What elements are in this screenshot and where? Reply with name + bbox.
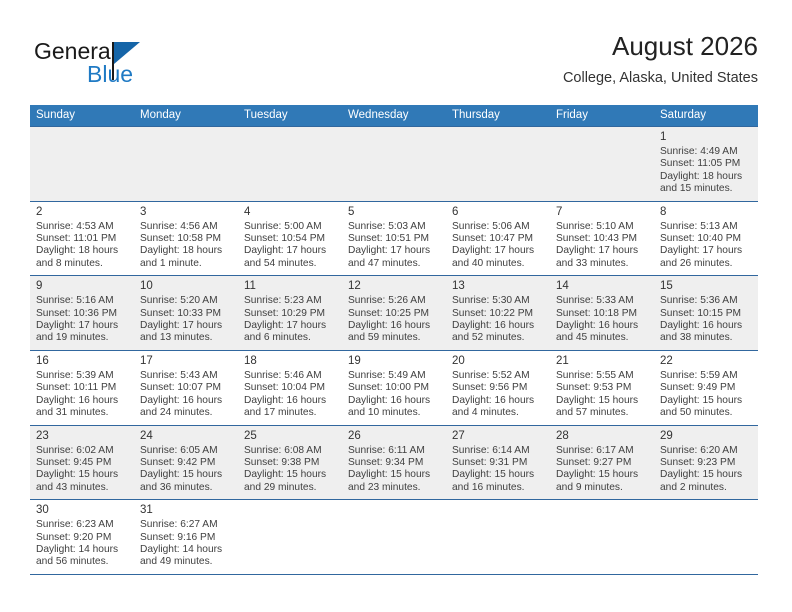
day-info-line: Sunset: 10:40 PM (660, 233, 752, 245)
day-sun-info: Sunrise: 4:56 AMSunset: 10:58 PMDaylight… (140, 221, 232, 271)
day-info-line: Daylight: 17 hours (244, 245, 336, 257)
weekday-header-monday: Monday (134, 105, 238, 127)
brand-name-blue: Blue (87, 61, 133, 87)
brand-logo[interactable]: General Blue (34, 38, 234, 94)
day-number: 11 (244, 279, 336, 294)
calendar-day-cell[interactable]: 19Sunrise: 5:49 AMSunset: 10:00 PMDaylig… (342, 350, 446, 425)
day-number: 29 (660, 429, 752, 444)
day-info-line: and 57 minutes. (556, 407, 648, 419)
day-number: 7 (556, 205, 648, 220)
day-sun-info: Sunrise: 5:36 AMSunset: 10:15 PMDaylight… (660, 295, 752, 345)
day-sun-info: Sunrise: 5:10 AMSunset: 10:43 PMDaylight… (556, 221, 648, 271)
day-info-line: Daylight: 18 hours (660, 171, 752, 183)
calendar-day-cell[interactable]: 17Sunrise: 5:43 AMSunset: 10:07 PMDaylig… (134, 350, 238, 425)
calendar-page: General Blue August 2026 College, Alaska… (0, 0, 792, 612)
calendar-day-cell-empty (654, 500, 758, 575)
day-info-line: and 33 minutes. (556, 258, 648, 270)
day-info-line: and 36 minutes. (140, 482, 232, 494)
day-info-line: Sunrise: 5:03 AM (348, 221, 440, 233)
day-info-line: Sunset: 10:36 PM (36, 308, 128, 320)
day-info-line: Sunrise: 5:52 AM (452, 370, 544, 382)
day-info-line: Daylight: 17 hours (556, 245, 648, 257)
day-info-line: Daylight: 14 hours (36, 544, 128, 556)
weekday-header-wednesday: Wednesday (342, 105, 446, 127)
day-info-line: and 50 minutes. (660, 407, 752, 419)
day-info-line: Sunset: 10:54 PM (244, 233, 336, 245)
weekday-header-friday: Friday (550, 105, 654, 127)
day-sun-info: Sunrise: 6:17 AMSunset: 9:27 PMDaylight:… (556, 445, 648, 495)
day-info-line: Sunrise: 5:23 AM (244, 295, 336, 307)
day-sun-info: Sunrise: 6:08 AMSunset: 9:38 PMDaylight:… (244, 445, 336, 495)
day-info-line: Sunrise: 4:49 AM (660, 146, 752, 158)
calendar-day-cell[interactable]: 26Sunrise: 6:11 AMSunset: 9:34 PMDayligh… (342, 425, 446, 500)
calendar-day-cell[interactable]: 1Sunrise: 4:49 AMSunset: 11:05 PMDayligh… (654, 127, 758, 202)
day-info-line: Daylight: 15 hours (452, 469, 544, 481)
day-info-line: Daylight: 16 hours (36, 395, 128, 407)
day-info-line: Daylight: 18 hours (140, 245, 232, 257)
day-info-line: Daylight: 17 hours (140, 320, 232, 332)
calendar-day-cell[interactable]: 24Sunrise: 6:05 AMSunset: 9:42 PMDayligh… (134, 425, 238, 500)
day-info-line: Sunset: 9:56 PM (452, 382, 544, 394)
day-info-line: Daylight: 17 hours (660, 245, 752, 257)
day-info-line: Daylight: 17 hours (348, 245, 440, 257)
day-number: 27 (452, 429, 544, 444)
calendar-day-cell-empty (446, 127, 550, 202)
day-info-line: Sunset: 9:34 PM (348, 457, 440, 469)
page-title: August 2026 (563, 30, 758, 62)
day-info-line: Daylight: 15 hours (348, 469, 440, 481)
day-info-line: Daylight: 16 hours (348, 395, 440, 407)
calendar-day-cell[interactable]: 15Sunrise: 5:36 AMSunset: 10:15 PMDaylig… (654, 276, 758, 351)
calendar-day-cell[interactable]: 20Sunrise: 5:52 AMSunset: 9:56 PMDayligh… (446, 350, 550, 425)
day-info-line: Daylight: 16 hours (140, 395, 232, 407)
day-info-line: Daylight: 15 hours (244, 469, 336, 481)
day-number: 25 (244, 429, 336, 444)
day-info-line: Sunrise: 6:14 AM (452, 445, 544, 457)
day-info-line: Sunset: 10:29 PM (244, 308, 336, 320)
calendar-day-cell[interactable]: 4Sunrise: 5:00 AMSunset: 10:54 PMDayligh… (238, 201, 342, 276)
day-info-line: and 49 minutes. (140, 556, 232, 568)
calendar-day-cell[interactable]: 5Sunrise: 5:03 AMSunset: 10:51 PMDayligh… (342, 201, 446, 276)
calendar-day-cell[interactable]: 8Sunrise: 5:13 AMSunset: 10:40 PMDayligh… (654, 201, 758, 276)
day-info-line: Sunset: 9:16 PM (140, 532, 232, 544)
calendar-day-cell[interactable]: 31Sunrise: 6:27 AMSunset: 9:16 PMDayligh… (134, 500, 238, 575)
day-info-line: Sunrise: 6:17 AM (556, 445, 648, 457)
day-info-line: Daylight: 15 hours (556, 395, 648, 407)
day-info-line: and 40 minutes. (452, 258, 544, 270)
day-sun-info: Sunrise: 4:53 AMSunset: 11:01 PMDaylight… (36, 221, 128, 271)
day-number: 26 (348, 429, 440, 444)
calendar-day-cell[interactable]: 18Sunrise: 5:46 AMSunset: 10:04 PMDaylig… (238, 350, 342, 425)
day-number: 1 (660, 130, 752, 145)
calendar-week-row: 30Sunrise: 6:23 AMSunset: 9:20 PMDayligh… (30, 500, 758, 575)
day-number: 6 (452, 205, 544, 220)
day-info-line: and 10 minutes. (348, 407, 440, 419)
day-info-line: Daylight: 14 hours (140, 544, 232, 556)
day-info-line: and 31 minutes. (36, 407, 128, 419)
calendar-day-cell[interactable]: 10Sunrise: 5:20 AMSunset: 10:33 PMDaylig… (134, 276, 238, 351)
day-info-line: Daylight: 15 hours (36, 469, 128, 481)
day-info-line: and 26 minutes. (660, 258, 752, 270)
day-info-line: Sunset: 11:05 PM (660, 158, 752, 170)
day-number: 28 (556, 429, 648, 444)
day-info-line: and 2 minutes. (660, 482, 752, 494)
day-info-line: Sunset: 10:58 PM (140, 233, 232, 245)
calendar-day-cell[interactable]: 25Sunrise: 6:08 AMSunset: 9:38 PMDayligh… (238, 425, 342, 500)
calendar-day-cell-empty (342, 500, 446, 575)
day-info-line: Sunrise: 6:02 AM (36, 445, 128, 457)
day-info-line: and 59 minutes. (348, 332, 440, 344)
day-sun-info: Sunrise: 5:23 AMSunset: 10:29 PMDaylight… (244, 295, 336, 345)
day-info-line: and 6 minutes. (244, 332, 336, 344)
calendar-day-cell[interactable]: 12Sunrise: 5:26 AMSunset: 10:25 PMDaylig… (342, 276, 446, 351)
day-info-line: Sunrise: 5:06 AM (452, 221, 544, 233)
day-sun-info: Sunrise: 6:20 AMSunset: 9:23 PMDaylight:… (660, 445, 752, 495)
day-info-line: Sunrise: 5:59 AM (660, 370, 752, 382)
day-number: 15 (660, 279, 752, 294)
day-info-line: Daylight: 16 hours (244, 395, 336, 407)
day-info-line: Daylight: 15 hours (556, 469, 648, 481)
day-info-line: and 47 minutes. (348, 258, 440, 270)
day-sun-info: Sunrise: 5:00 AMSunset: 10:54 PMDaylight… (244, 221, 336, 271)
day-info-line: Sunrise: 5:33 AM (556, 295, 648, 307)
calendar-day-cell[interactable]: 6Sunrise: 5:06 AMSunset: 10:47 PMDayligh… (446, 201, 550, 276)
day-number: 5 (348, 205, 440, 220)
day-number: 31 (140, 503, 232, 518)
day-number: 10 (140, 279, 232, 294)
day-info-line: and 8 minutes. (36, 258, 128, 270)
day-info-line: Sunrise: 5:55 AM (556, 370, 648, 382)
day-info-line: Sunset: 10:43 PM (556, 233, 648, 245)
day-info-line: Sunset: 9:49 PM (660, 382, 752, 394)
day-info-line: Daylight: 15 hours (660, 469, 752, 481)
page-subtitle: College, Alaska, United States (563, 68, 758, 88)
day-sun-info: Sunrise: 5:46 AMSunset: 10:04 PMDaylight… (244, 370, 336, 420)
day-number: 30 (36, 503, 128, 518)
day-info-line: Sunset: 9:42 PM (140, 457, 232, 469)
day-sun-info: Sunrise: 5:30 AMSunset: 10:22 PMDaylight… (452, 295, 544, 345)
day-info-line: Sunrise: 5:20 AM (140, 295, 232, 307)
day-sun-info: Sunrise: 5:06 AMSunset: 10:47 PMDaylight… (452, 221, 544, 271)
day-info-line: Sunrise: 5:46 AM (244, 370, 336, 382)
day-info-line: Sunrise: 5:43 AM (140, 370, 232, 382)
day-sun-info: Sunrise: 6:23 AMSunset: 9:20 PMDaylight:… (36, 519, 128, 569)
day-number: 3 (140, 205, 232, 220)
day-info-line: Sunset: 10:25 PM (348, 308, 440, 320)
day-info-line: and 29 minutes. (244, 482, 336, 494)
calendar-day-cell[interactable]: 11Sunrise: 5:23 AMSunset: 10:29 PMDaylig… (238, 276, 342, 351)
day-info-line: Sunset: 10:00 PM (348, 382, 440, 394)
calendar-day-cell[interactable]: 14Sunrise: 5:33 AMSunset: 10:18 PMDaylig… (550, 276, 654, 351)
day-info-line: and 16 minutes. (452, 482, 544, 494)
day-number: 16 (36, 354, 128, 369)
day-info-line: and 52 minutes. (452, 332, 544, 344)
calendar-day-cell-empty (238, 500, 342, 575)
day-info-line: and 38 minutes. (660, 332, 752, 344)
day-sun-info: Sunrise: 5:39 AMSunset: 10:11 PMDaylight… (36, 370, 128, 420)
day-info-line: Sunset: 10:18 PM (556, 308, 648, 320)
calendar-body: 1Sunrise: 4:49 AMSunset: 11:05 PMDayligh… (30, 127, 758, 575)
weekday-header-row: Sunday Monday Tuesday Wednesday Thursday… (30, 105, 758, 127)
calendar-day-cell[interactable]: 16Sunrise: 5:39 AMSunset: 10:11 PMDaylig… (30, 350, 134, 425)
day-info-line: Sunrise: 6:23 AM (36, 519, 128, 531)
calendar-day-cell[interactable]: 28Sunrise: 6:17 AMSunset: 9:27 PMDayligh… (550, 425, 654, 500)
day-info-line: Sunrise: 4:56 AM (140, 221, 232, 233)
day-info-line: Sunset: 9:31 PM (452, 457, 544, 469)
calendar-day-cell-empty (30, 127, 134, 202)
day-info-line: Sunset: 10:22 PM (452, 308, 544, 320)
day-info-line: Sunrise: 5:49 AM (348, 370, 440, 382)
day-info-line: Sunrise: 6:05 AM (140, 445, 232, 457)
calendar-day-cell[interactable]: 9Sunrise: 5:16 AMSunset: 10:36 PMDayligh… (30, 276, 134, 351)
calendar-day-cell[interactable]: 29Sunrise: 6:20 AMSunset: 9:23 PMDayligh… (654, 425, 758, 500)
calendar-week-row: 16Sunrise: 5:39 AMSunset: 10:11 PMDaylig… (30, 350, 758, 425)
day-number: 12 (348, 279, 440, 294)
day-info-line: and 4 minutes. (452, 407, 544, 419)
day-info-line: and 17 minutes. (244, 407, 336, 419)
day-number: 14 (556, 279, 648, 294)
day-info-line: Sunset: 10:04 PM (244, 382, 336, 394)
day-info-line: Sunset: 9:38 PM (244, 457, 336, 469)
day-sun-info: Sunrise: 6:02 AMSunset: 9:45 PMDaylight:… (36, 445, 128, 495)
day-info-line: Sunset: 9:23 PM (660, 457, 752, 469)
day-info-line: Sunrise: 5:13 AM (660, 221, 752, 233)
day-info-line: Sunset: 9:45 PM (36, 457, 128, 469)
day-info-line: Sunrise: 6:11 AM (348, 445, 440, 457)
calendar-day-cell[interactable]: 3Sunrise: 4:56 AMSunset: 10:58 PMDayligh… (134, 201, 238, 276)
day-info-line: Sunrise: 6:08 AM (244, 445, 336, 457)
day-info-line: and 45 minutes. (556, 332, 648, 344)
day-info-line: and 43 minutes. (36, 482, 128, 494)
calendar-day-cell[interactable]: 30Sunrise: 6:23 AMSunset: 9:20 PMDayligh… (30, 500, 134, 575)
day-number: 21 (556, 354, 648, 369)
day-number: 13 (452, 279, 544, 294)
day-number: 4 (244, 205, 336, 220)
day-number: 8 (660, 205, 752, 220)
day-number: 18 (244, 354, 336, 369)
day-info-line: Daylight: 17 hours (452, 245, 544, 257)
day-info-line: Sunrise: 5:36 AM (660, 295, 752, 307)
calendar-day-cell[interactable]: 23Sunrise: 6:02 AMSunset: 9:45 PMDayligh… (30, 425, 134, 500)
day-info-line: and 13 minutes. (140, 332, 232, 344)
calendar-day-cell-empty (342, 127, 446, 202)
day-info-line: Sunset: 10:15 PM (660, 308, 752, 320)
day-info-line: Daylight: 16 hours (660, 320, 752, 332)
day-number: 2 (36, 205, 128, 220)
calendar-day-cell-empty (446, 500, 550, 575)
day-number: 20 (452, 354, 544, 369)
page-header: General Blue August 2026 College, Alaska… (0, 0, 792, 104)
day-info-line: and 19 minutes. (36, 332, 128, 344)
day-number: 23 (36, 429, 128, 444)
day-info-line: Sunset: 10:51 PM (348, 233, 440, 245)
day-info-line: Sunrise: 4:53 AM (36, 221, 128, 233)
day-sun-info: Sunrise: 5:03 AMSunset: 10:51 PMDaylight… (348, 221, 440, 271)
day-info-line: Sunset: 10:07 PM (140, 382, 232, 394)
day-sun-info: Sunrise: 5:43 AMSunset: 10:07 PMDaylight… (140, 370, 232, 420)
day-info-line: Daylight: 16 hours (452, 320, 544, 332)
weekday-header-saturday: Saturday (654, 105, 758, 127)
day-number: 22 (660, 354, 752, 369)
calendar-day-cell-empty (550, 500, 654, 575)
day-sun-info: Sunrise: 5:13 AMSunset: 10:40 PMDaylight… (660, 221, 752, 271)
day-info-line: Sunset: 9:27 PM (556, 457, 648, 469)
day-number: 9 (36, 279, 128, 294)
day-info-line: and 56 minutes. (36, 556, 128, 568)
day-number: 17 (140, 354, 232, 369)
day-info-line: Daylight: 16 hours (452, 395, 544, 407)
calendar-day-cell[interactable]: 22Sunrise: 5:59 AMSunset: 9:49 PMDayligh… (654, 350, 758, 425)
calendar-day-cell[interactable]: 7Sunrise: 5:10 AMSunset: 10:43 PMDayligh… (550, 201, 654, 276)
day-number: 19 (348, 354, 440, 369)
day-info-line: Sunset: 10:33 PM (140, 308, 232, 320)
day-info-line: Sunset: 9:20 PM (36, 532, 128, 544)
day-sun-info: Sunrise: 5:52 AMSunset: 9:56 PMDaylight:… (452, 370, 544, 420)
day-sun-info: Sunrise: 5:26 AMSunset: 10:25 PMDaylight… (348, 295, 440, 345)
day-info-line: Daylight: 15 hours (140, 469, 232, 481)
day-info-line: Sunrise: 5:16 AM (36, 295, 128, 307)
calendar-header-row: Sunday Monday Tuesday Wednesday Thursday… (30, 105, 758, 127)
day-info-line: Sunrise: 5:26 AM (348, 295, 440, 307)
day-sun-info: Sunrise: 6:27 AMSunset: 9:16 PMDaylight:… (140, 519, 232, 569)
day-info-line: Daylight: 17 hours (244, 320, 336, 332)
calendar-day-cell[interactable]: 27Sunrise: 6:14 AMSunset: 9:31 PMDayligh… (446, 425, 550, 500)
calendar-week-row: 23Sunrise: 6:02 AMSunset: 9:45 PMDayligh… (30, 425, 758, 500)
calendar-week-row: 1Sunrise: 4:49 AMSunset: 11:05 PMDayligh… (30, 127, 758, 202)
weekday-header-sunday: Sunday (30, 105, 134, 127)
day-info-line: and 23 minutes. (348, 482, 440, 494)
day-info-line: Daylight: 18 hours (36, 245, 128, 257)
title-block: August 2026 College, Alaska, United Stat… (563, 30, 758, 88)
weekday-header-thursday: Thursday (446, 105, 550, 127)
day-info-line: Sunrise: 5:39 AM (36, 370, 128, 382)
day-info-line: and 9 minutes. (556, 482, 648, 494)
day-info-line: Daylight: 16 hours (556, 320, 648, 332)
day-info-line: Sunrise: 5:30 AM (452, 295, 544, 307)
day-sun-info: Sunrise: 5:33 AMSunset: 10:18 PMDaylight… (556, 295, 648, 345)
day-info-line: Sunrise: 5:00 AM (244, 221, 336, 233)
day-info-line: Sunset: 9:53 PM (556, 382, 648, 394)
day-sun-info: Sunrise: 6:14 AMSunset: 9:31 PMDaylight:… (452, 445, 544, 495)
day-info-line: Sunrise: 6:27 AM (140, 519, 232, 531)
day-sun-info: Sunrise: 6:05 AMSunset: 9:42 PMDaylight:… (140, 445, 232, 495)
day-sun-info: Sunrise: 6:11 AMSunset: 9:34 PMDaylight:… (348, 445, 440, 495)
calendar-grid: Sunday Monday Tuesday Wednesday Thursday… (30, 105, 758, 575)
day-number: 24 (140, 429, 232, 444)
day-info-line: Daylight: 15 hours (660, 395, 752, 407)
day-info-line: and 1 minute. (140, 258, 232, 270)
day-info-line: Daylight: 17 hours (36, 320, 128, 332)
day-sun-info: Sunrise: 5:59 AMSunset: 9:49 PMDaylight:… (660, 370, 752, 420)
calendar-day-cell-empty (134, 127, 238, 202)
day-info-line: Sunset: 10:47 PM (452, 233, 544, 245)
day-info-line: and 24 minutes. (140, 407, 232, 419)
calendar-day-cell-empty (550, 127, 654, 202)
calendar-week-row: 9Sunrise: 5:16 AMSunset: 10:36 PMDayligh… (30, 276, 758, 351)
day-info-line: and 15 minutes. (660, 183, 752, 195)
day-info-line: Sunrise: 6:20 AM (660, 445, 752, 457)
day-info-line: Sunset: 10:11 PM (36, 382, 128, 394)
day-sun-info: Sunrise: 5:16 AMSunset: 10:36 PMDaylight… (36, 295, 128, 345)
calendar-day-cell[interactable]: 13Sunrise: 5:30 AMSunset: 10:22 PMDaylig… (446, 276, 550, 351)
day-info-line: Sunrise: 5:10 AM (556, 221, 648, 233)
day-sun-info: Sunrise: 4:49 AMSunset: 11:05 PMDaylight… (660, 146, 752, 196)
day-info-line: Sunset: 11:01 PM (36, 233, 128, 245)
day-info-line: Daylight: 16 hours (348, 320, 440, 332)
weekday-header-tuesday: Tuesday (238, 105, 342, 127)
day-sun-info: Sunrise: 5:49 AMSunset: 10:00 PMDaylight… (348, 370, 440, 420)
calendar-day-cell[interactable]: 2Sunrise: 4:53 AMSunset: 11:01 PMDayligh… (30, 201, 134, 276)
day-sun-info: Sunrise: 5:55 AMSunset: 9:53 PMDaylight:… (556, 370, 648, 420)
day-info-line: and 54 minutes. (244, 258, 336, 270)
calendar-day-cell-empty (238, 127, 342, 202)
day-sun-info: Sunrise: 5:20 AMSunset: 10:33 PMDaylight… (140, 295, 232, 345)
calendar-week-row: 2Sunrise: 4:53 AMSunset: 11:01 PMDayligh… (30, 201, 758, 276)
calendar-day-cell[interactable]: 21Sunrise: 5:55 AMSunset: 9:53 PMDayligh… (550, 350, 654, 425)
